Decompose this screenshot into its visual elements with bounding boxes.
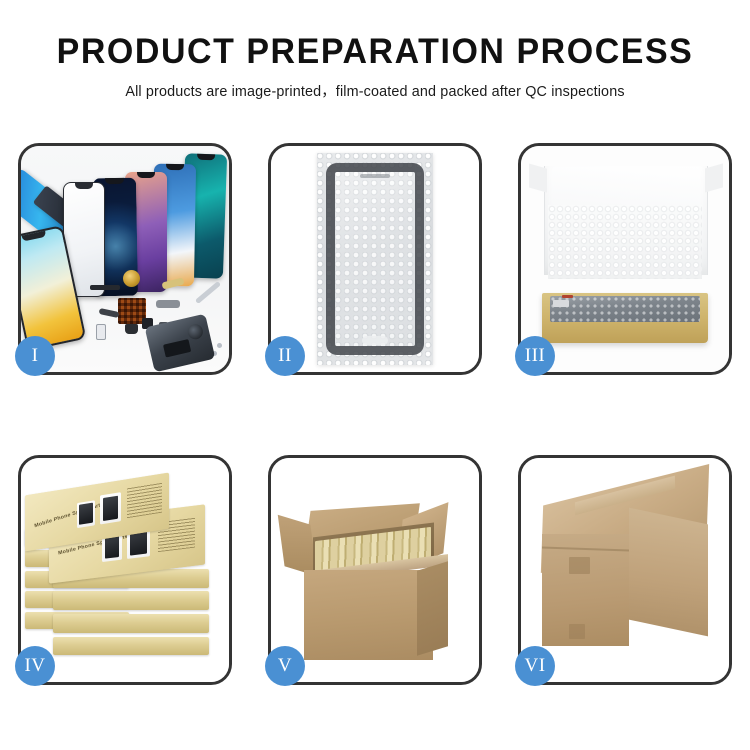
page-subtitle: All products are image-printed，film-coat… [4, 80, 747, 101]
sealed-carton-photo [521, 458, 729, 682]
phone-housing-board-icon [145, 313, 216, 372]
home-button-icon [362, 336, 388, 345]
step-badge-4: IV [15, 646, 55, 686]
process-step-3[interactable]: III [518, 143, 732, 375]
foam-padding [548, 205, 702, 280]
carton-tab-upper [569, 557, 590, 575]
stacked-boxes-photo: Mobile Phone Spare Parts Mobile Phone Sp… [21, 458, 229, 682]
step-6-image [521, 458, 729, 682]
bubble-wrap-sheet [317, 153, 433, 365]
tray-label-tab [553, 300, 569, 307]
box-window-1a [77, 500, 96, 528]
bubble-wrapped-screen-photo [271, 146, 479, 372]
carton-side-face [417, 561, 448, 656]
process-step-grid: I II [0, 143, 750, 685]
page-header: PRODUCT PREPARATION PROCESS All products… [0, 0, 750, 101]
page-title: PRODUCT PREPARATION PROCESS [11, 34, 739, 71]
flex-cable-1-icon [161, 277, 184, 289]
copper-coil-icon [123, 270, 140, 287]
box-window-1b [100, 493, 122, 525]
box-speclines-1 [127, 483, 162, 519]
step-badge-1: I [15, 336, 55, 376]
carton-front-face [304, 570, 433, 660]
speaker-icon [125, 324, 138, 334]
tweezers-icon [195, 281, 221, 304]
screw-2-icon [217, 343, 222, 348]
carton-tab-lower [569, 624, 586, 640]
sim-tray-icon [96, 324, 106, 340]
stack-front-3 [53, 614, 209, 633]
step-1-image [21, 146, 229, 372]
earpiece-slot-icon [360, 174, 390, 178]
process-step-2[interactable]: II [268, 143, 482, 375]
step-badge-2: II [265, 336, 305, 376]
flex-cable-2-icon [156, 300, 180, 308]
box-stack: Mobile Phone Spare Parts Mobile Phone Sp… [25, 480, 225, 668]
stack-front-4 [53, 637, 209, 656]
phone-fan-group [21, 146, 229, 286]
process-step-4[interactable]: Mobile Phone Spare Parts Mobile Phone Sp… [18, 455, 232, 685]
step-badge-3: III [515, 336, 555, 376]
board-camera-icon [186, 323, 204, 341]
step-badge-5: V [265, 646, 305, 686]
tray-red-mark [562, 295, 573, 298]
mailer-box-photo [521, 146, 729, 372]
process-step-6[interactable]: VI [518, 455, 732, 685]
open-carton-photo [271, 458, 479, 682]
sealed-carton-side [629, 508, 708, 637]
step-5-image [271, 458, 479, 682]
step-4-image: Mobile Phone Spare Parts Mobile Phone Sp… [21, 458, 229, 682]
phone-glass-panel [326, 163, 424, 354]
stack-front-2 [53, 591, 209, 610]
step-3-image [521, 146, 729, 372]
step-badge-6: VI [515, 646, 555, 686]
spare-parts-group [88, 268, 225, 367]
kraft-tray [542, 293, 708, 343]
wrapped-screen-in-tray [550, 296, 700, 322]
flex-cable-3-icon [98, 308, 119, 318]
board-chip-icon [163, 339, 191, 358]
phone-parts-photo [21, 146, 229, 372]
flex-bar-icon [90, 285, 120, 290]
process-step-1[interactable]: I [18, 143, 232, 375]
step-2-image [271, 146, 479, 372]
process-step-5[interactable]: V [268, 455, 482, 685]
